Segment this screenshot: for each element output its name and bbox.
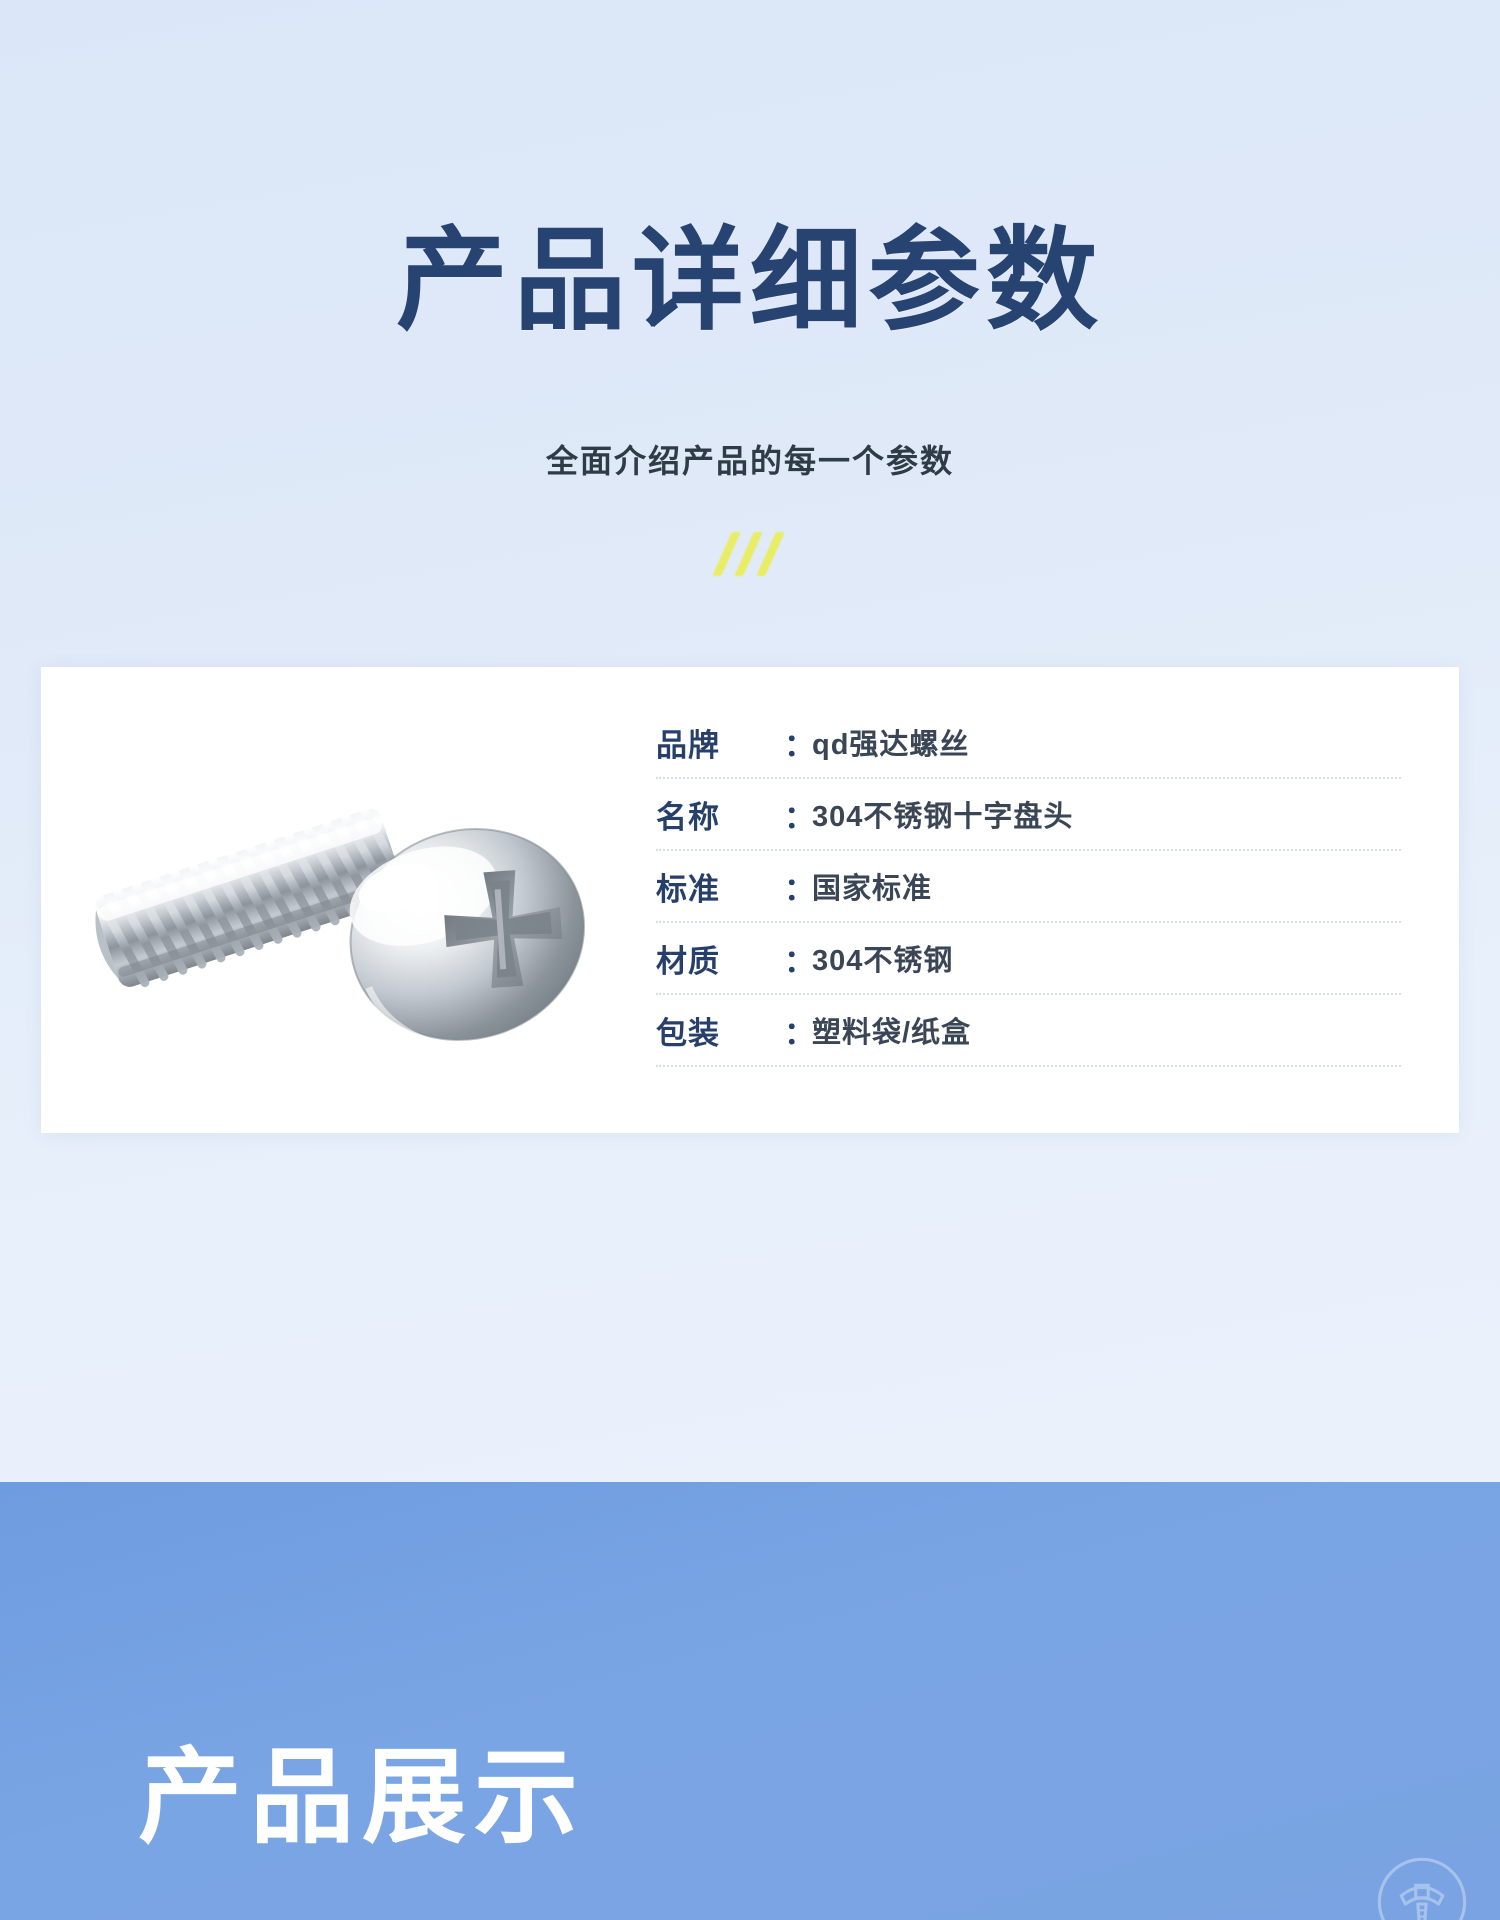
spec-label: 标准 <box>656 864 784 909</box>
table-row: 包装 ： 塑料袋/纸盒 <box>656 995 1401 1067</box>
screw-logo-watermark-icon <box>1370 1850 1474 1920</box>
spec-table: 品牌 ： qd强达螺丝 名称 ： 304不锈钢十字盘头 标准 ： 国家标准 材质… <box>656 707 1401 1067</box>
spec-value: 304不锈钢 <box>812 937 953 979</box>
product-detail-page: 产品详细参数 全面介绍产品的每一个参数 <box>0 0 1500 1920</box>
product-image <box>86 727 606 1077</box>
triple-slash-decoration-icon <box>718 532 788 578</box>
table-row: 名称 ： 304不锈钢十字盘头 <box>656 779 1401 851</box>
table-row: 材质 ： 304不锈钢 <box>656 923 1401 995</box>
spec-colon: ： <box>784 792 812 837</box>
spec-label: 名称 <box>656 792 784 837</box>
table-row: 标准 ： 国家标准 <box>656 851 1401 923</box>
spec-colon: ： <box>784 1008 812 1053</box>
spec-value: qd强达螺丝 <box>812 721 969 763</box>
spec-colon: ： <box>784 936 812 981</box>
table-row: 品牌 ： qd强达螺丝 <box>656 707 1401 779</box>
spec-colon: ： <box>784 864 812 909</box>
page-subtitle: 全面介绍产品的每一个参数 <box>0 436 1500 482</box>
spec-label: 材质 <box>656 936 784 981</box>
spec-value: 国家标准 <box>812 865 932 907</box>
spec-label: 品牌 <box>656 720 784 765</box>
spec-value: 塑料袋/纸盒 <box>812 1009 971 1051</box>
product-showcase-section: 产品展示 <box>0 1482 1500 1920</box>
spec-label: 包装 <box>656 1008 784 1053</box>
spec-colon: ： <box>784 720 812 765</box>
page-title: 产品详细参数 <box>0 222 1500 340</box>
spec-card: 品牌 ： qd强达螺丝 名称 ： 304不锈钢十字盘头 标准 ： 国家标准 材质… <box>41 667 1459 1133</box>
spec-value: 304不锈钢十字盘头 <box>812 793 1073 835</box>
section-title: 产品展示 <box>138 1746 586 1850</box>
